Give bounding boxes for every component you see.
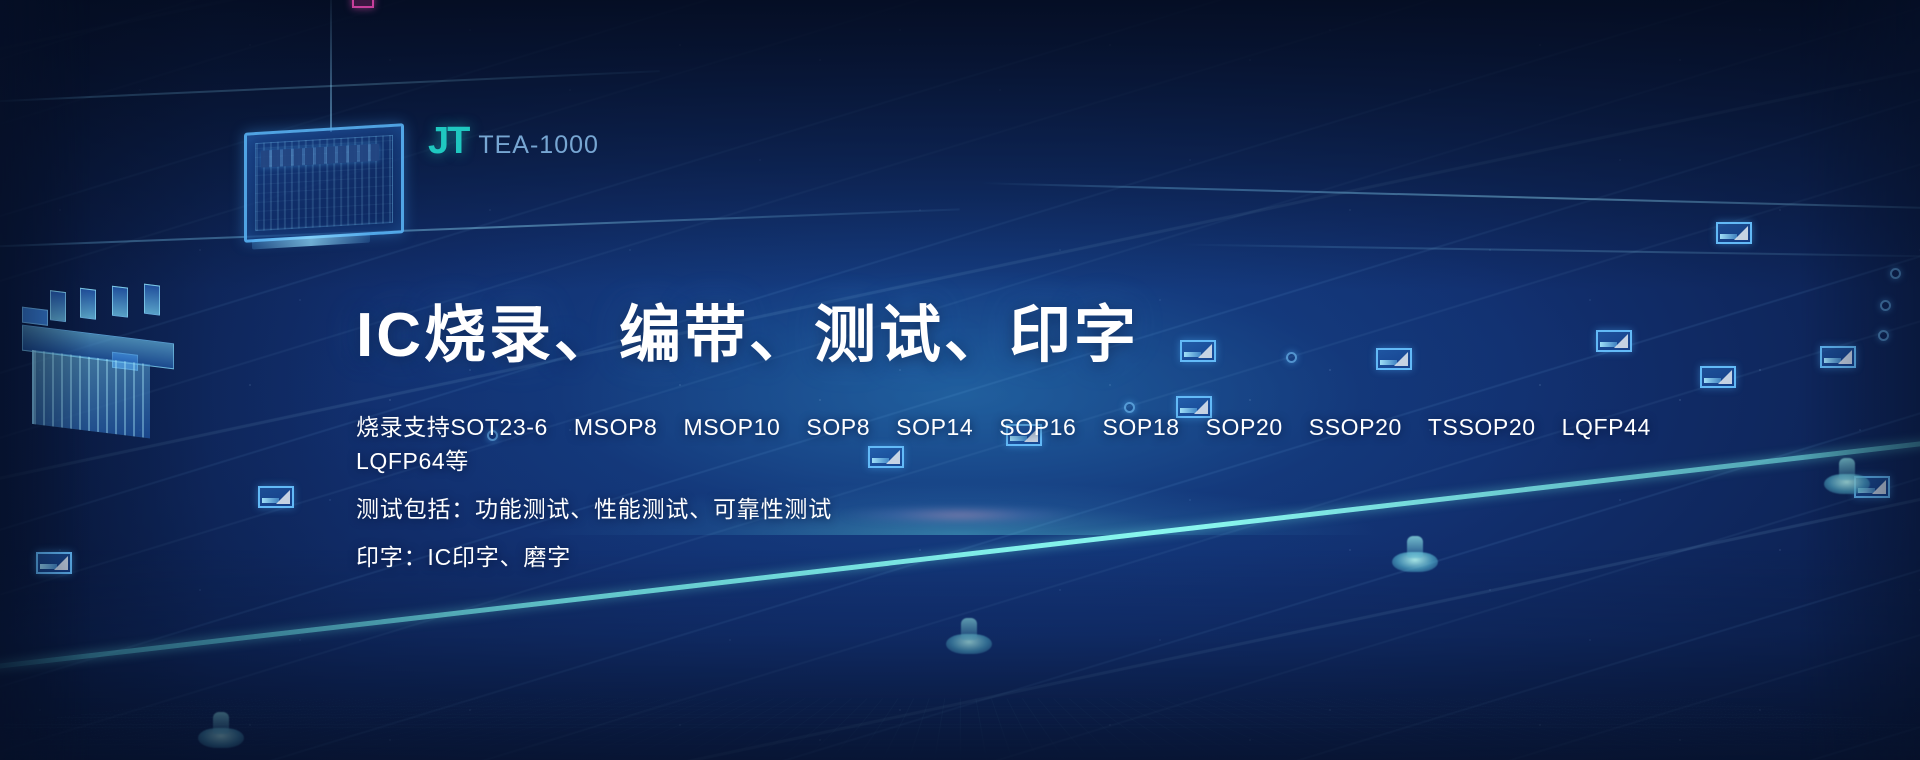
brand-lockup: JT TEA-1000 [428,120,599,163]
package-label: SOP18 [1102,414,1179,441]
package-label: MSOP10 [683,414,780,441]
package-label: SOP20 [1206,414,1283,441]
package-label: LQFP44 [1562,414,1651,441]
rig-head [112,286,128,318]
bottom-vignette [0,550,1920,760]
package-label: LQFP64等 [356,442,469,476]
machine-model-label: TEA-1000 [478,131,599,160]
page-title: IC烧录、编带、测试、印字 [356,300,1706,372]
jt-logo: JT [428,120,468,163]
ic-service-hero-banner: JT TEA-1000 IC烧录、编带、测试、印字 [0,0,1920,760]
package-label: SOP16 [999,414,1076,441]
package-label: SOP14 [896,414,973,441]
banner-content: IC烧录、编带、测试、印字 烧录支持SOT23-6 MSOP8 MSOP10 S… [356,300,1706,572]
chip-tray-icon [1716,222,1752,244]
package-label: TSSOP20 [1428,414,1536,441]
magenta-marker-icon [352,0,374,8]
printing-services-line: 印字：IC印字、磨字 [356,538,1706,572]
chip-tray-icon [258,486,294,508]
burn-support-package-list: 烧录支持SOT23-6 MSOP8 MSOP10 SOP8 SOP14 SOP1… [356,408,1706,476]
testing-services-line: 测试包括：功能测试、性能测试、可靠性测试 [356,490,1706,524]
monitor-arm [330,0,332,132]
monitor-screen-icon [244,123,404,243]
package-label: SOP8 [806,414,870,441]
left-edge-fade [0,0,90,760]
package-label: SSOP20 [1309,414,1402,441]
burn-support-prefix: 烧录支持SOT23-6 [356,408,548,442]
rig-head [144,284,160,316]
package-label: MSOP8 [574,414,658,441]
right-edge-fade [1800,0,1920,760]
